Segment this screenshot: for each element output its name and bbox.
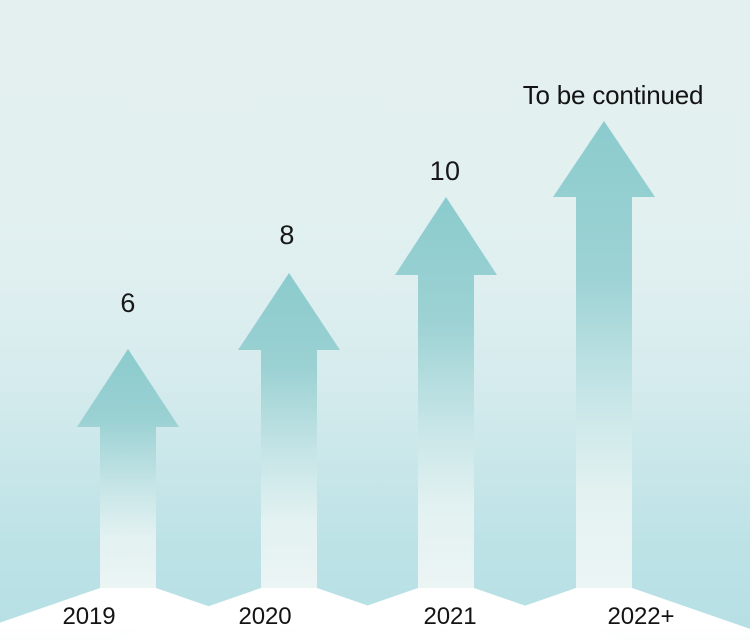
value-label-2019: 6 <box>120 290 135 317</box>
arrow-bar-2020 <box>238 273 340 588</box>
value-label-2020: 8 <box>279 222 294 249</box>
axis-label-2021: 2021 <box>424 605 477 629</box>
arrow-bar-2021 <box>395 197 497 588</box>
arrow-bar-2022plus <box>553 121 655 588</box>
chart-canvas: 6 8 10 To be continued 2019 2020 2021 20… <box>0 0 750 640</box>
arrow-bars-group <box>77 121 655 588</box>
axis-label-2022: 2022+ <box>608 605 675 629</box>
arrow-bar-2019 <box>77 349 179 588</box>
value-label-2021: 10 <box>430 158 461 185</box>
projection-note-2022: To be continued <box>523 82 704 108</box>
axis-label-2019: 2019 <box>63 605 116 629</box>
axis-label-2020: 2020 <box>239 605 292 629</box>
